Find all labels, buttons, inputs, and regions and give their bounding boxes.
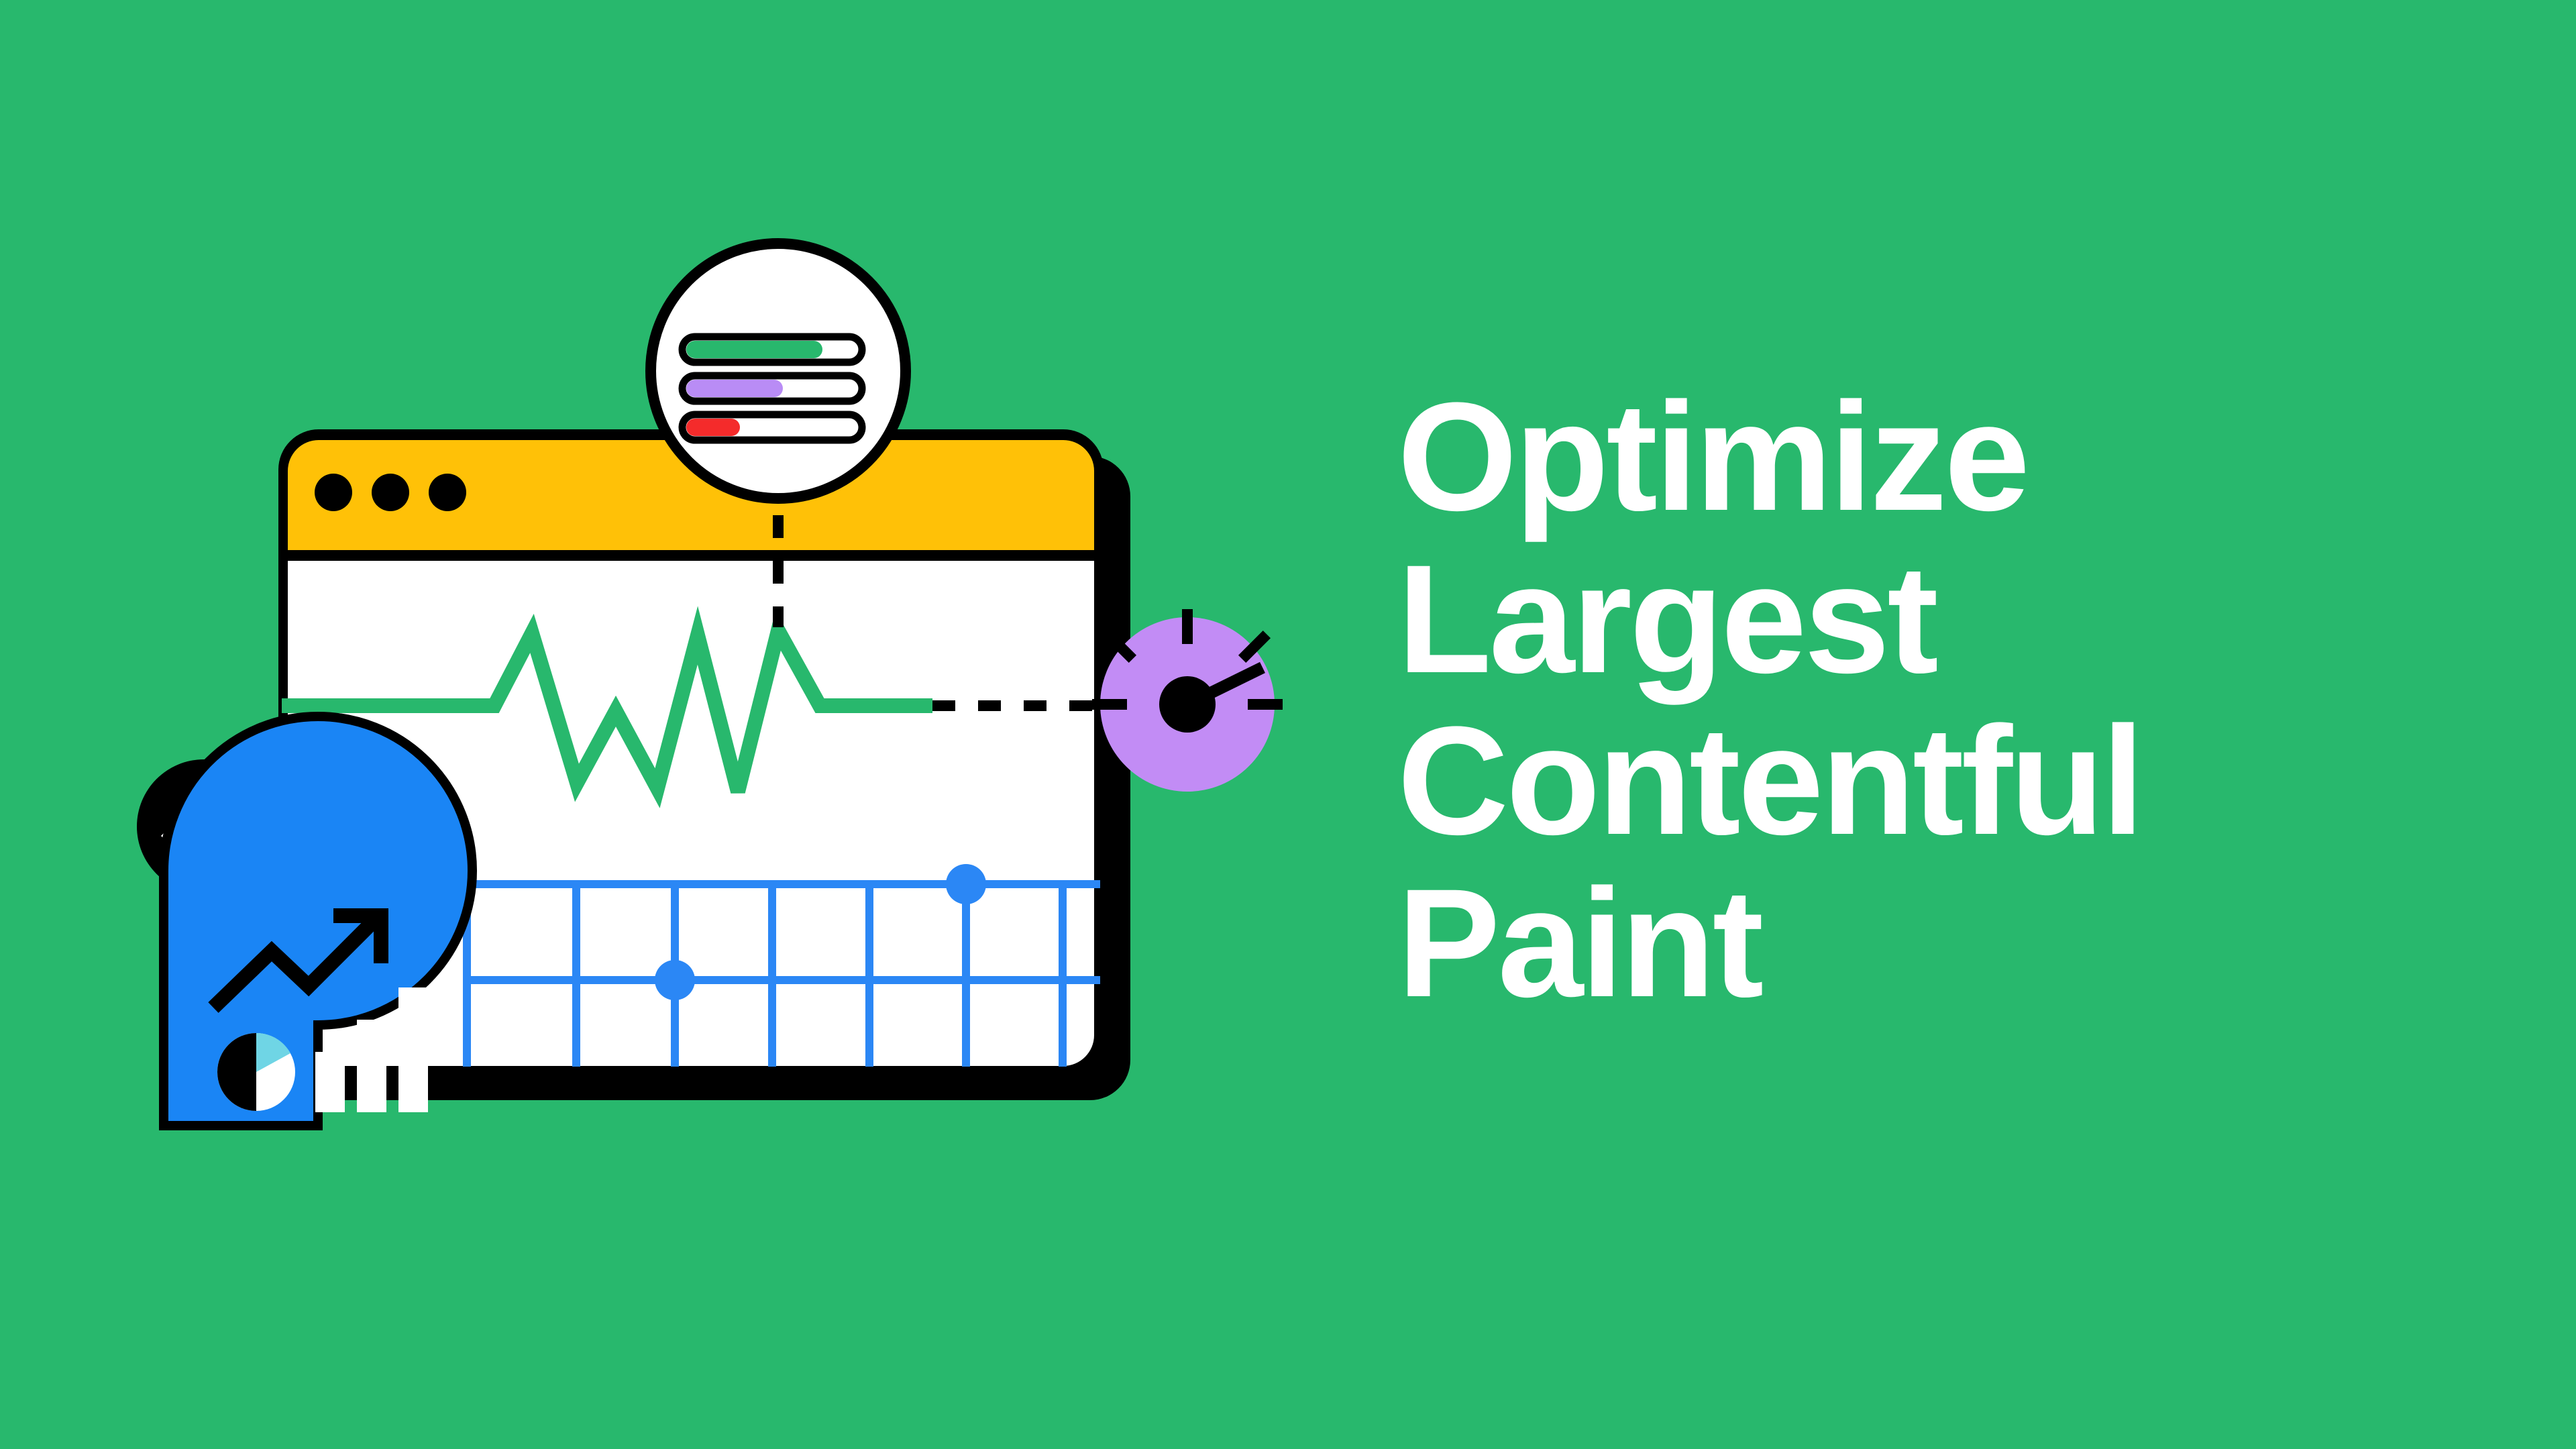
progress-bar-red-fill <box>686 419 740 436</box>
progress-bar-purple <box>682 376 862 401</box>
headline-line-1: Optimize <box>1397 376 2404 538</box>
page-title: Optimize Largest Contentful Paint <box>1397 376 2404 1024</box>
progress-bar-red <box>682 415 862 440</box>
gauge-tick-left <box>1092 699 1127 710</box>
grid-dot-left[interactable] <box>655 960 695 1000</box>
progress-bar-green-fill <box>686 341 822 358</box>
grid-hline-2 <box>463 976 1100 984</box>
grid-hline-1 <box>463 880 1100 888</box>
mini-pie-chart <box>217 1033 295 1111</box>
gauge-hub <box>1159 676 1216 733</box>
headline-line-4: Paint <box>1397 862 2404 1024</box>
grid-vline-1 <box>572 880 580 1067</box>
window-dot-1[interactable] <box>315 474 352 511</box>
mini-bar-1 <box>315 1052 345 1112</box>
grid-vline-5 <box>962 880 970 1067</box>
gauge-tick-top <box>1182 609 1193 644</box>
grid-vline-6 <box>1059 880 1067 1067</box>
mini-bar-3 <box>398 987 428 1112</box>
browser-title-separator <box>278 550 1104 561</box>
gauge-tick-right <box>1248 699 1283 710</box>
window-dot-3[interactable] <box>429 474 466 511</box>
grid-dot-right[interactable] <box>946 864 986 904</box>
progress-bar-purple-fill <box>686 380 783 397</box>
window-controls[interactable] <box>315 474 466 511</box>
grid-vline-3 <box>768 880 776 1067</box>
hero-banner: Optimize Largest Contentful Paint <box>0 0 2576 1449</box>
metrics-badge-circle <box>651 244 906 498</box>
progress-bar-green <box>682 337 862 362</box>
headline-line-2: Largest <box>1397 538 2404 700</box>
metrics-badge[interactable] <box>651 244 906 498</box>
window-dot-2[interactable] <box>372 474 409 511</box>
lcp-illustration <box>0 0 1374 1449</box>
analytics-badge[interactable] <box>164 716 472 1126</box>
grid-vline-4 <box>865 880 873 1067</box>
headline-line-3: Contentful <box>1397 700 2404 862</box>
mini-bar-2 <box>357 1020 386 1112</box>
